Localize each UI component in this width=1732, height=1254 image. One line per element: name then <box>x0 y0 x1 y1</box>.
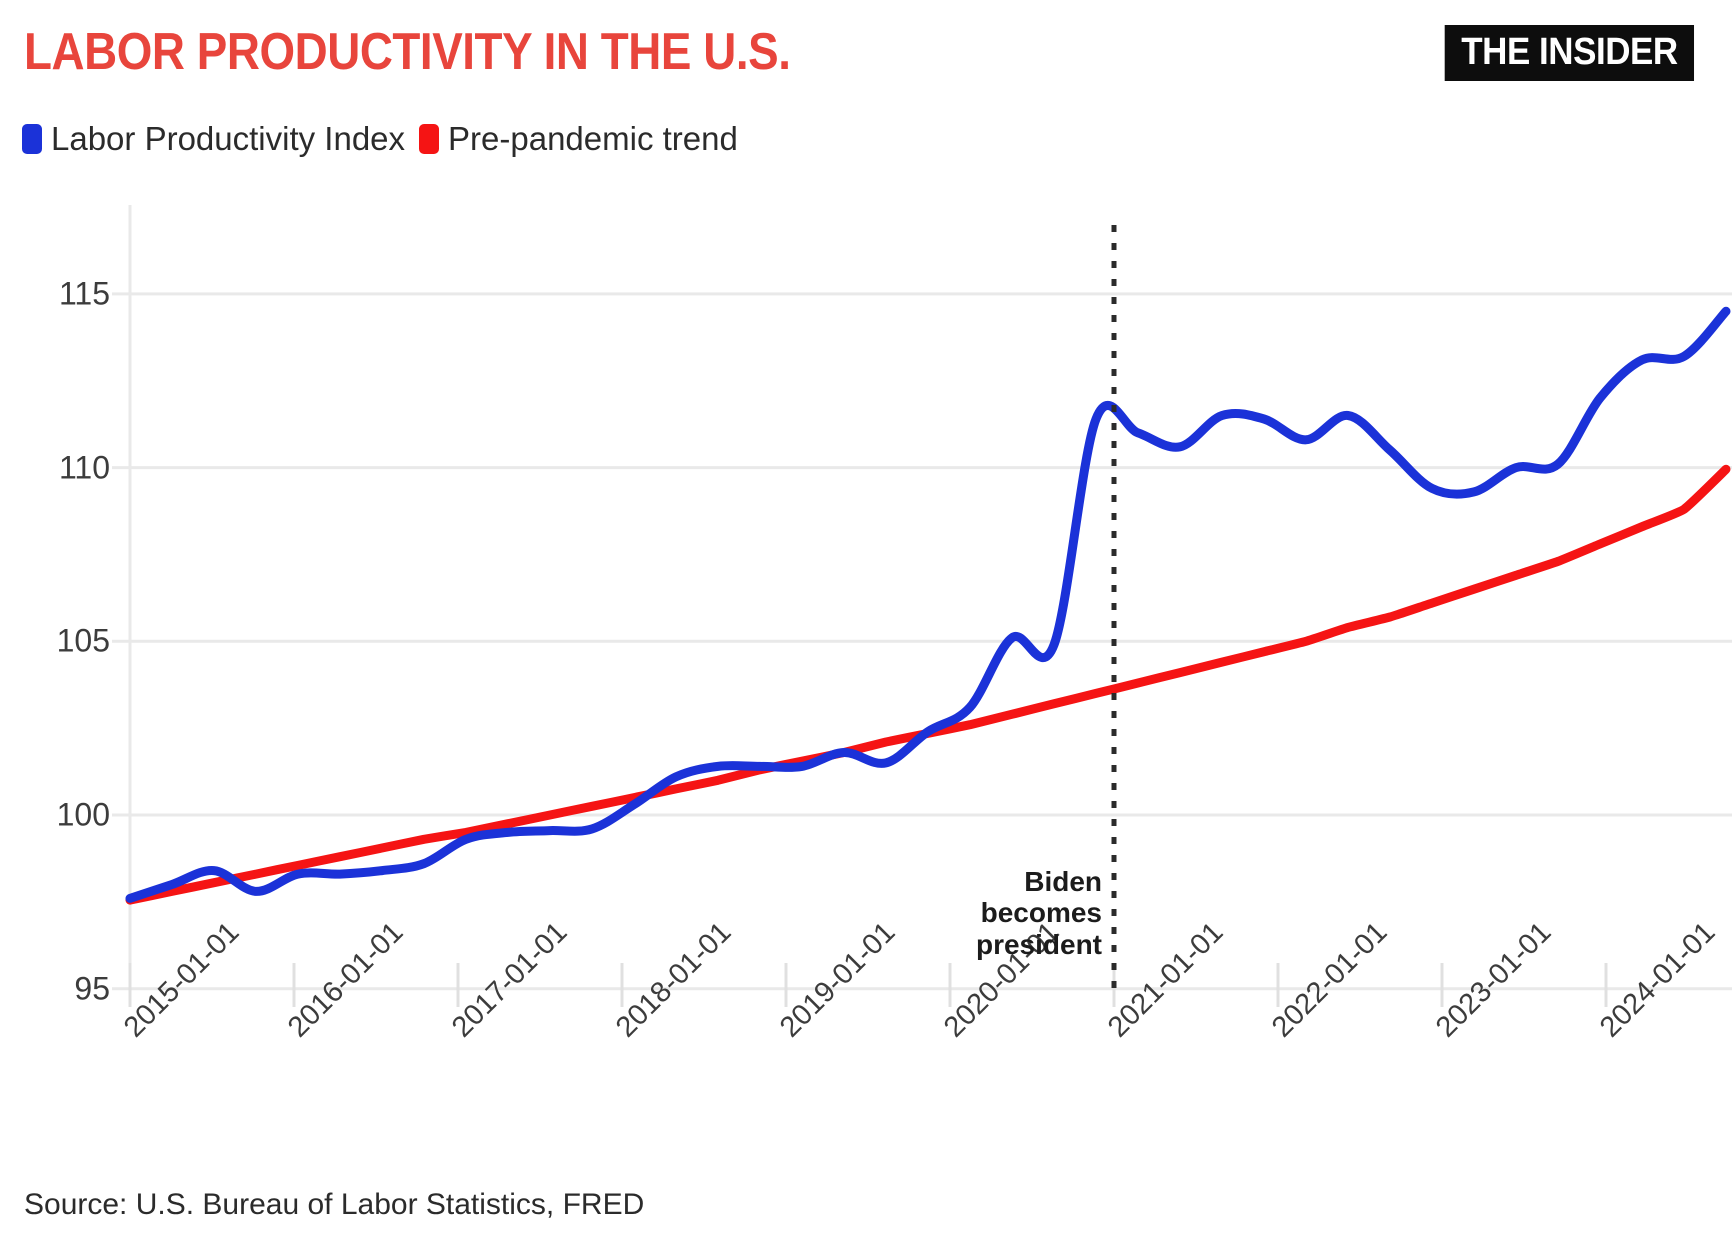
y-axis-tick-label: 105 <box>0 623 110 660</box>
annotation-line-1: Biden <box>874 866 1102 897</box>
source-caption: Source: U.S. Bureau of Labor Statistics,… <box>24 1188 644 1222</box>
annotation-line-2: becomes <box>874 897 1102 928</box>
y-axis-tick-label: 115 <box>0 275 110 312</box>
annotation-line-3: president <box>874 929 1102 960</box>
y-axis-tick-label: 95 <box>0 970 110 1007</box>
productivity-line-path <box>130 311 1726 898</box>
y-axis-tick-label: 100 <box>0 797 110 834</box>
trend-line-path <box>130 469 1726 900</box>
line-chart-canvas <box>0 0 1732 1254</box>
event-annotation: Biden becomes president <box>874 866 1102 960</box>
y-axis-tick-label: 110 <box>0 449 110 486</box>
